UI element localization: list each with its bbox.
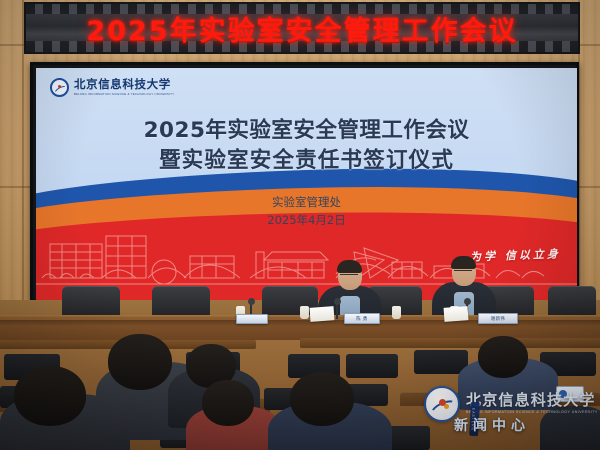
nameplate [236, 314, 268, 324]
led-banner-text: 2025年实验室安全管理工作会议 [86, 9, 517, 48]
slide-logo-cn: 北京信息科技大学 [74, 79, 174, 91]
audience-seat-back [346, 354, 398, 378]
nameplate: 陈 勇 [344, 313, 380, 324]
projection-screen: 北京信息科技大学 BEIJING INFORMATION SCIENCE & T… [30, 62, 579, 302]
speaker-hair [337, 260, 362, 273]
conference-room-photo: 2025年实验室安全管理工作会议 [0, 0, 600, 450]
water-cup [300, 306, 309, 319]
person-head [290, 372, 354, 426]
speaker-hair [451, 256, 476, 269]
head-table-chair [548, 286, 596, 316]
document-papers [310, 306, 335, 322]
bistu-emblem-icon [50, 78, 69, 97]
nameplate: 谢新伟 [478, 313, 518, 324]
watermark-news-center: 新闻中心 [454, 415, 530, 435]
speaker-glasses-icon [340, 274, 358, 279]
person-head [14, 366, 86, 426]
slide-title-line1: 2025年实验室安全管理工作会议 [36, 116, 577, 146]
head-table-chair [62, 286, 120, 316]
slide-date: 2025年4月2日 [36, 212, 577, 230]
backdrop-motto: 为学 信以立身 [470, 245, 561, 264]
nameplate-text: 陈 勇 [356, 316, 367, 322]
microphone-icon [336, 302, 338, 319]
person-head [108, 334, 172, 390]
slide-subtitle: 实验室管理处 2025年4月2日 [36, 194, 577, 230]
watermark-cn: 北京信息科技大学 [466, 393, 598, 408]
document-papers [444, 306, 469, 322]
person-head [478, 336, 528, 378]
speaker-glasses-icon [454, 270, 472, 275]
audience-desk [300, 338, 600, 348]
slide-title: 2025年实验室安全管理工作会议 暨实验室安全责任书签订仪式 [36, 116, 577, 175]
slide-logo-en: BEIJING INFORMATION SCIENCE & TECHNOLOGY… [74, 93, 174, 96]
nameplate-text: 谢新伟 [491, 316, 505, 322]
led-banner: 2025年实验室安全管理工作会议 [24, 2, 580, 54]
watermark-en: BEIJING INFORMATION SCIENCE & TECHNOLOGY… [466, 411, 598, 415]
slide-organizer: 实验室管理处 [36, 194, 577, 212]
head-table-chair [152, 286, 210, 316]
slide-title-line2: 暨实验室安全责任书签订仪式 [36, 146, 577, 176]
slide-university-logo: 北京信息科技大学 BEIJING INFORMATION SCIENCE & T… [50, 78, 174, 97]
water-cup [392, 306, 401, 319]
presentation-slide: 北京信息科技大学 BEIJING INFORMATION SCIENCE & T… [36, 68, 577, 300]
person-head [202, 380, 254, 426]
